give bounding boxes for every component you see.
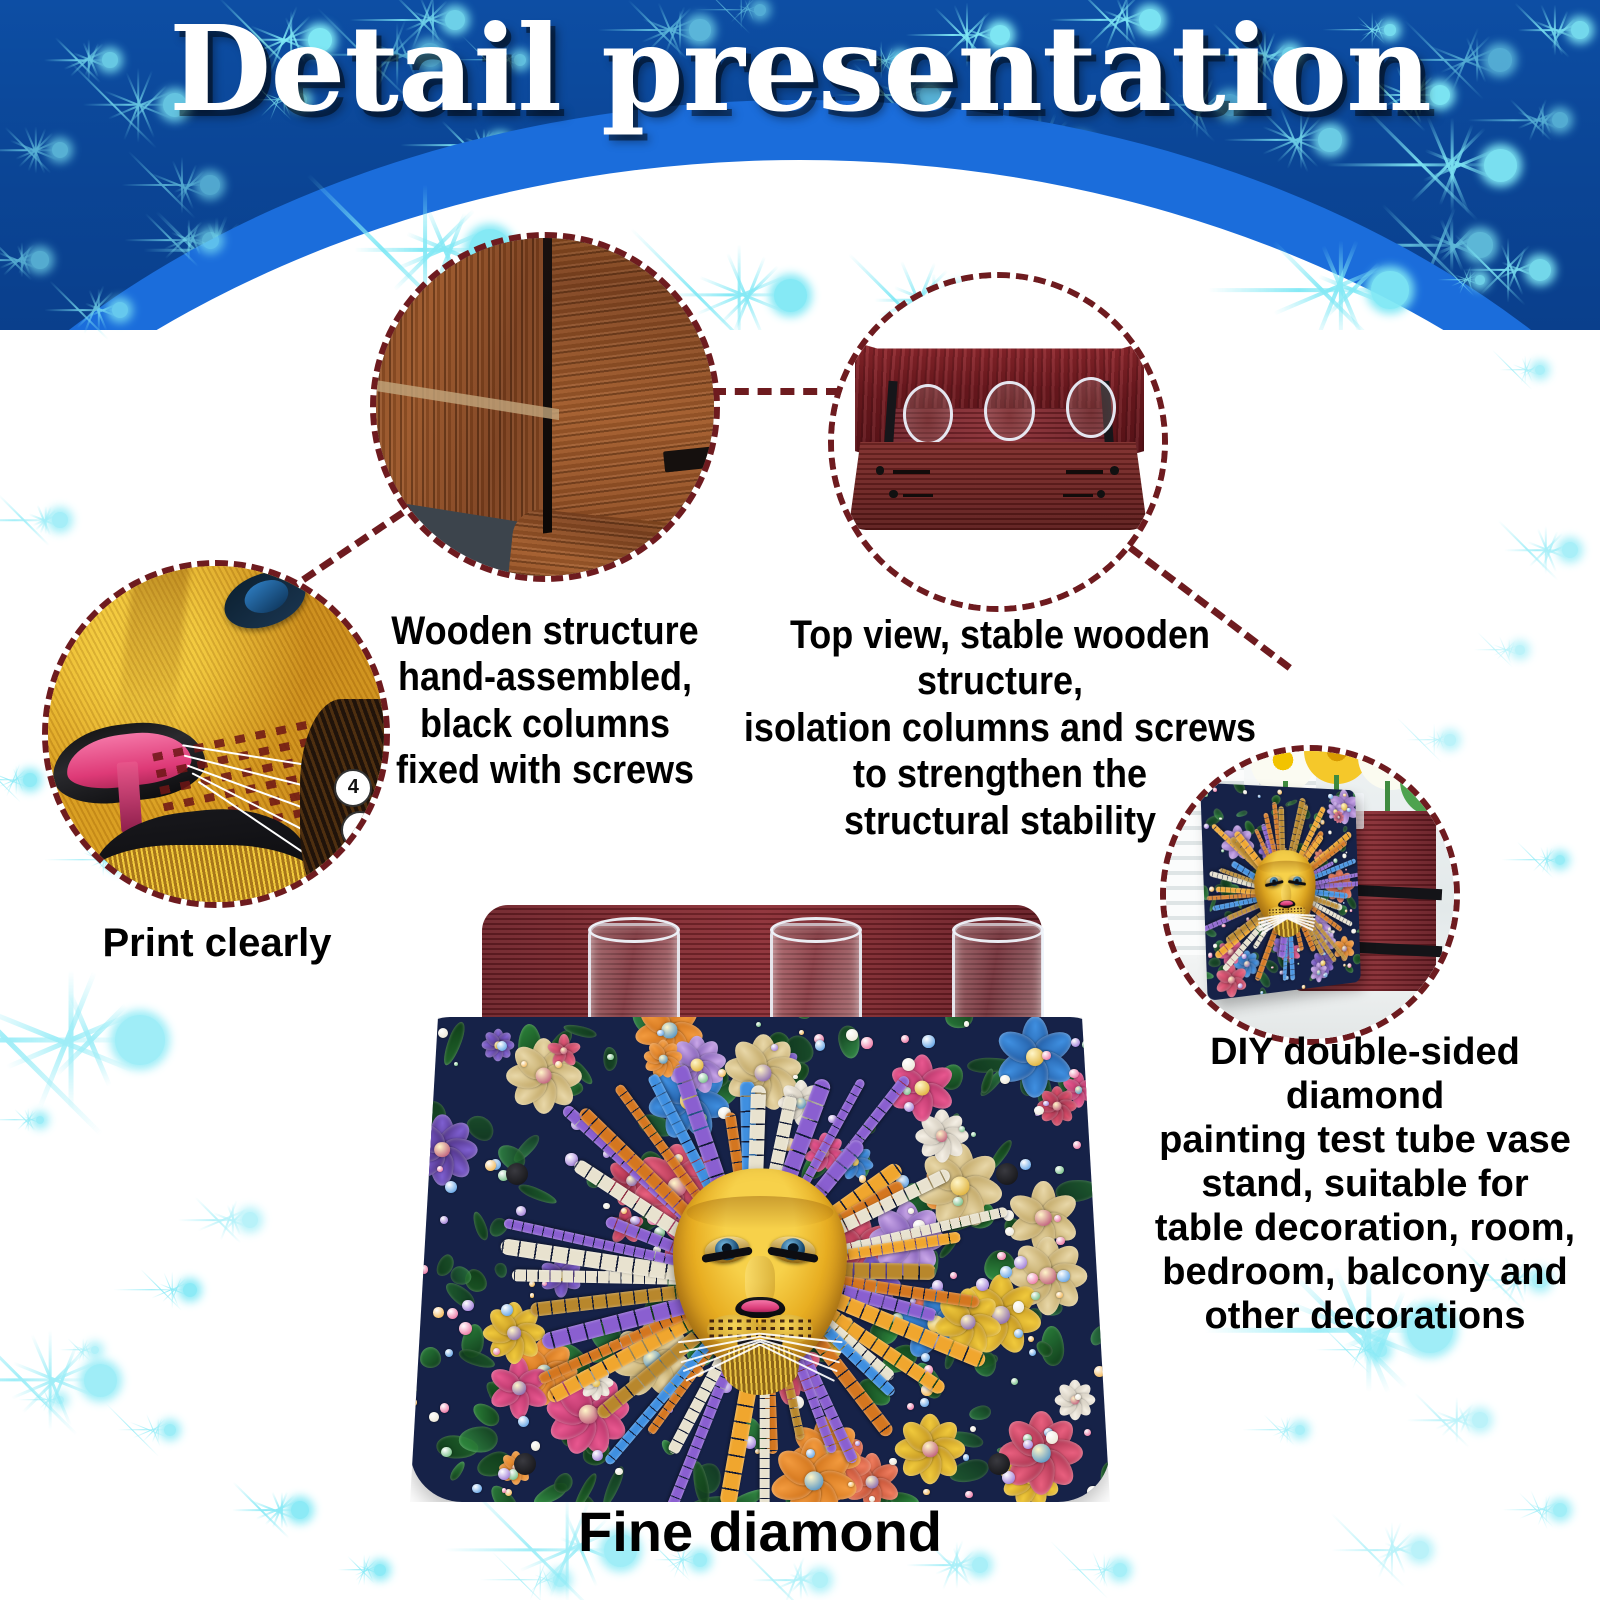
mosaic-leaf [943,1017,975,1031]
rhinestone [440,1216,448,1224]
rhinestone [1343,902,1345,904]
rhinestone [964,1021,970,1027]
callout-image-wooden-structure [370,232,720,582]
rhinestone [1075,1394,1081,1400]
rhinestone [1069,1069,1079,1079]
rhinestone [447,1308,458,1319]
rhinestone [815,1040,826,1051]
rhinestone [1297,963,1299,966]
rhinestone [1352,929,1356,934]
screw-1 [876,466,885,475]
rhinestone [1085,1050,1097,1062]
flower-center [923,1442,939,1458]
rhinestone [1328,793,1333,798]
mosaic-leaf [1202,783,1213,788]
rhinestone [997,1252,1005,1260]
rhinestone [970,1426,976,1432]
test-tube-3 [952,923,1044,1030]
rhinestone [1321,820,1325,825]
rhinestone [1277,789,1282,794]
rhinestone [1073,1141,1081,1149]
mosaic-leaf [796,1017,812,1020]
flower-center [691,1059,704,1072]
flower-center [915,1081,930,1096]
rhinestone [1011,1378,1018,1385]
rhinestone [518,1416,529,1427]
rhinestone [950,1272,957,1279]
test-tube-rim [588,917,680,943]
rhinestone [1020,1159,1031,1170]
rhinestone [1257,795,1260,799]
rhinestone [846,1029,858,1041]
rhinestone [1238,983,1243,989]
rhinestone [698,1073,708,1083]
panel-screw-tl [506,1163,528,1185]
rhinestone [855,1441,860,1446]
rhinestone [462,1300,473,1311]
rhinestone [1345,909,1348,912]
mosaic-leaf [447,1459,467,1483]
rhinestone [922,1035,934,1047]
test-tube-2 [770,923,862,1030]
rhinestone [1219,817,1222,820]
caption-print-clearly: Print clearly [42,920,392,966]
lion-nose-pink [1280,901,1293,907]
rhinestone [429,1412,439,1422]
rhinestone [1029,1349,1036,1356]
rhinestone [1350,909,1352,911]
screw-2 [1110,466,1119,475]
rhinestone [920,1398,929,1407]
rhinestone [441,1447,452,1458]
rhinestone [1028,1336,1034,1342]
rhinestone [1345,869,1347,871]
top-view-test-tube-stand-photo [828,272,1168,612]
rhinestone [1328,830,1332,834]
caption-diy-description: DIY double-sided diamond painting test t… [1140,1030,1590,1339]
rhinestone [498,1468,510,1480]
rhinestone [440,1403,450,1413]
rhinestone [965,1491,973,1499]
rhinestone [1213,787,1217,791]
rhinestone [445,1181,457,1193]
rhinestone [1056,1237,1064,1245]
rhinestone [1333,858,1338,863]
mosaic-leaf [410,1411,415,1435]
rhinestone [1082,1040,1091,1049]
rhinestone [901,1035,909,1043]
rhinestone [971,1132,976,1137]
rhinestone [516,1206,526,1216]
rhinestone [756,1022,761,1027]
flower-center [512,1381,526,1395]
rhinestone [607,1054,614,1061]
test-tube-1 [588,923,680,1030]
rhinestone [959,1126,965,1132]
test-tube-rim-3 [1066,377,1116,437]
flower-center [434,1142,450,1158]
rhinestone [1203,792,1208,797]
mosaic-leaf [494,1262,509,1279]
lion-brow [687,1196,834,1229]
flower-center [1244,960,1250,966]
flower-center [1075,1086,1083,1094]
lion-muzzle-closeup-photo: 444116 [42,560,390,908]
rhinestone [1031,1292,1040,1301]
rhinestone [555,1061,562,1068]
test-tube-rim-2 [984,381,1034,441]
flower-center [1053,1102,1062,1111]
wooden-corner-joint-photo [370,232,720,582]
rhinestone [437,1166,443,1172]
rhinestone [433,1307,443,1317]
flower-center [866,1476,879,1489]
page-title: Detail presentation [0,6,1600,131]
mosaic-leaf [410,1097,430,1126]
rhinestone [861,1037,872,1048]
infographic-page: Detail presentation [0,0,1600,1600]
rhinestone [1087,1486,1099,1498]
main-product-image [410,905,1110,1505]
rhinestone [454,1062,458,1066]
rhinestone [1243,790,1247,794]
stand-front-panel [848,442,1147,530]
diamond-number-marker: 4 [341,811,379,849]
callout-image-print-clearly: 444116 [42,560,390,908]
rhinestone [1347,808,1351,812]
flower-center [1032,1444,1051,1463]
rhinestone [445,1349,453,1357]
rhinestone [493,1348,500,1355]
rhinestone [1302,984,1306,988]
rhinestone [1000,1075,1009,1084]
diamond-panel-mini [1200,783,1361,1001]
rhinestone [923,1489,930,1496]
mosaic-leaf [517,1182,559,1208]
lion-brow [1259,860,1311,874]
rhinestone [976,1278,989,1291]
rhinestone [1046,1431,1058,1443]
rhinestone [1099,1244,1107,1252]
flower-center [1338,816,1340,819]
panel-screw-br [988,1453,1010,1475]
mosaic-leaf [1087,1322,1110,1349]
rhinestone [502,1488,507,1493]
flower-center [1342,946,1347,952]
rhinestone [1013,1301,1024,1312]
rhinestone [793,1075,797,1079]
rhinestone [1094,1366,1105,1377]
rhinestone [1343,854,1347,858]
mosaic-leaf [410,1376,419,1395]
mosaic-leaf [410,1243,419,1292]
mosaic-leaf [571,1471,600,1502]
test-tube-rim-1 [903,384,953,444]
rhinestone [615,1468,623,1476]
rhinestone [531,1441,541,1451]
flower-center [560,1047,568,1055]
rhinestone [1071,1038,1080,1047]
panel-screw-bl [514,1453,536,1475]
rhinestone [1222,924,1225,928]
rhinestone [472,1484,481,1493]
rhinestone [921,1353,930,1362]
rhinestone [438,1028,448,1038]
flower-center [659,1055,668,1064]
mosaic-leaf [1098,1459,1110,1492]
rhinestone [1042,1051,1050,1059]
rhinestone [806,1449,815,1458]
callout-image-top-view [828,272,1168,612]
rhinestone [1204,824,1210,830]
panel-screw-tr [996,1163,1018,1185]
flower-center [936,1130,948,1142]
rhinestone [1043,1101,1048,1106]
flower-center [951,1177,970,1196]
rhinestone [414,1276,421,1283]
lion-head [1253,850,1317,930]
rhinestone [1057,1270,1069,1282]
rhinestone [889,1458,897,1466]
test-tube-rim [770,917,862,943]
room-scene-vase-stand-photo [1160,745,1460,1045]
rhinestone [1084,1429,1091,1436]
rhinestone [1056,1292,1062,1298]
test-tube-rim [952,917,1044,943]
rhinestone [411,1399,418,1406]
mosaic-leaf [968,1404,992,1422]
rhinestone [1023,1440,1032,1449]
flower-center [961,1314,976,1329]
callout-image-diy-description [1160,745,1460,1045]
mosaic-leaf [470,1210,490,1242]
rhinestone [530,1293,535,1298]
lion-nose-pink [741,1300,779,1313]
connector-line-wood-to-topview [712,388,840,395]
flower-center [535,1067,552,1084]
wood-board-left [370,232,559,528]
mosaic-leaf [410,1367,417,1388]
mosaic-leaf [410,1026,411,1053]
rhinestone [1014,1329,1023,1338]
rhinestone [420,1265,428,1273]
rhinestone [592,1450,602,1460]
caption-fine-diamond: Fine diamond [400,1500,1120,1565]
rhinestone [799,1030,804,1035]
flower-center [507,1326,521,1340]
wood-board-right [549,232,721,559]
rhinestone [1034,1106,1043,1115]
lion-head [673,1169,847,1370]
rhinestone [908,1208,914,1214]
rhinestone [1209,887,1214,892]
rhinestone [963,1454,970,1461]
rhinestone [1000,1266,1012,1278]
mosaic-leaf [420,1347,442,1368]
rhinestone [603,1203,610,1210]
rhinestone [771,1044,778,1051]
caption-wooden-structure: Wooden structure hand-assembled, black c… [365,608,725,794]
rhinestone [953,1197,962,1206]
rhinestone [1055,1166,1063,1174]
lion-floral-panel [410,1017,1110,1502]
rhinestone [1260,991,1262,994]
mosaic-leaf [459,1425,499,1453]
rhinestone [907,1403,914,1410]
flower-center [1317,970,1321,975]
mosaic-leaf [1235,809,1248,818]
rhinestone [485,1160,496,1171]
rhinestone [1345,851,1347,854]
